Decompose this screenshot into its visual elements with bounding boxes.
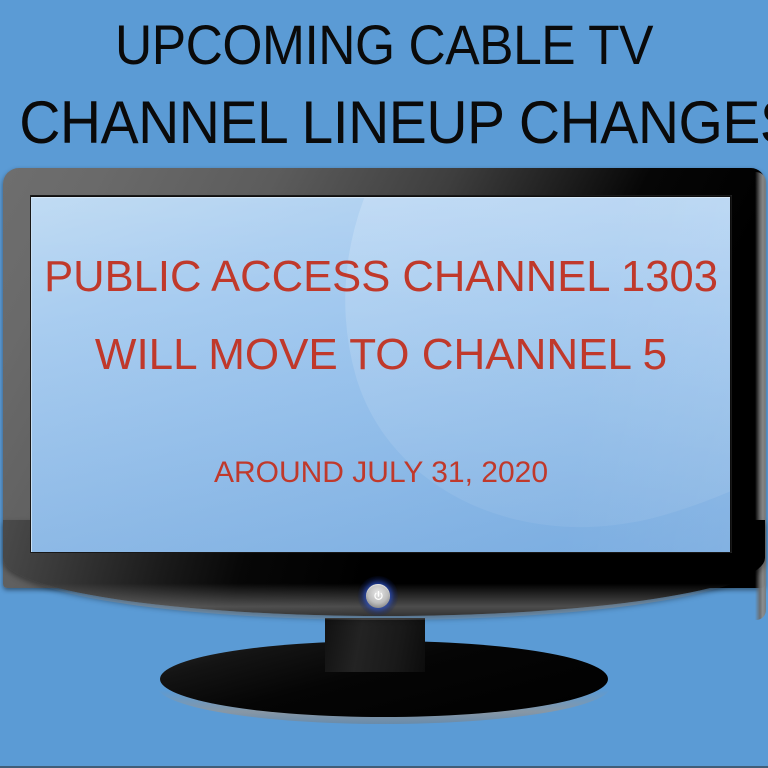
power-button[interactable]: [358, 576, 398, 616]
power-button-face: [366, 584, 390, 608]
screen-message-line-3: AROUND JULY 31, 2020: [32, 456, 730, 490]
tv-screen: PUBLIC ACCESS CHANNEL 1303 WILL MOVE TO …: [31, 197, 730, 552]
power-icon: [372, 590, 385, 603]
poster-canvas: UPCOMING CABLE TV CHANNEL LINEUP CHANGES…: [0, 0, 768, 768]
headline-line-2: CHANNEL LINEUP CHANGES: [19, 90, 749, 156]
screen-message-line-2: WILL MOVE TO CHANNEL 5: [32, 330, 730, 380]
screen-message-line-1: PUBLIC ACCESS CHANNEL 1303: [35, 252, 726, 302]
tv-stand-neck: [325, 618, 425, 672]
headline-line-1: UPCOMING CABLE TV: [31, 14, 738, 76]
television: PUBLIC ACCESS CHANNEL 1303 WILL MOVE TO …: [3, 168, 765, 624]
screen-message: PUBLIC ACCESS CHANNEL 1303 WILL MOVE TO …: [32, 198, 730, 552]
